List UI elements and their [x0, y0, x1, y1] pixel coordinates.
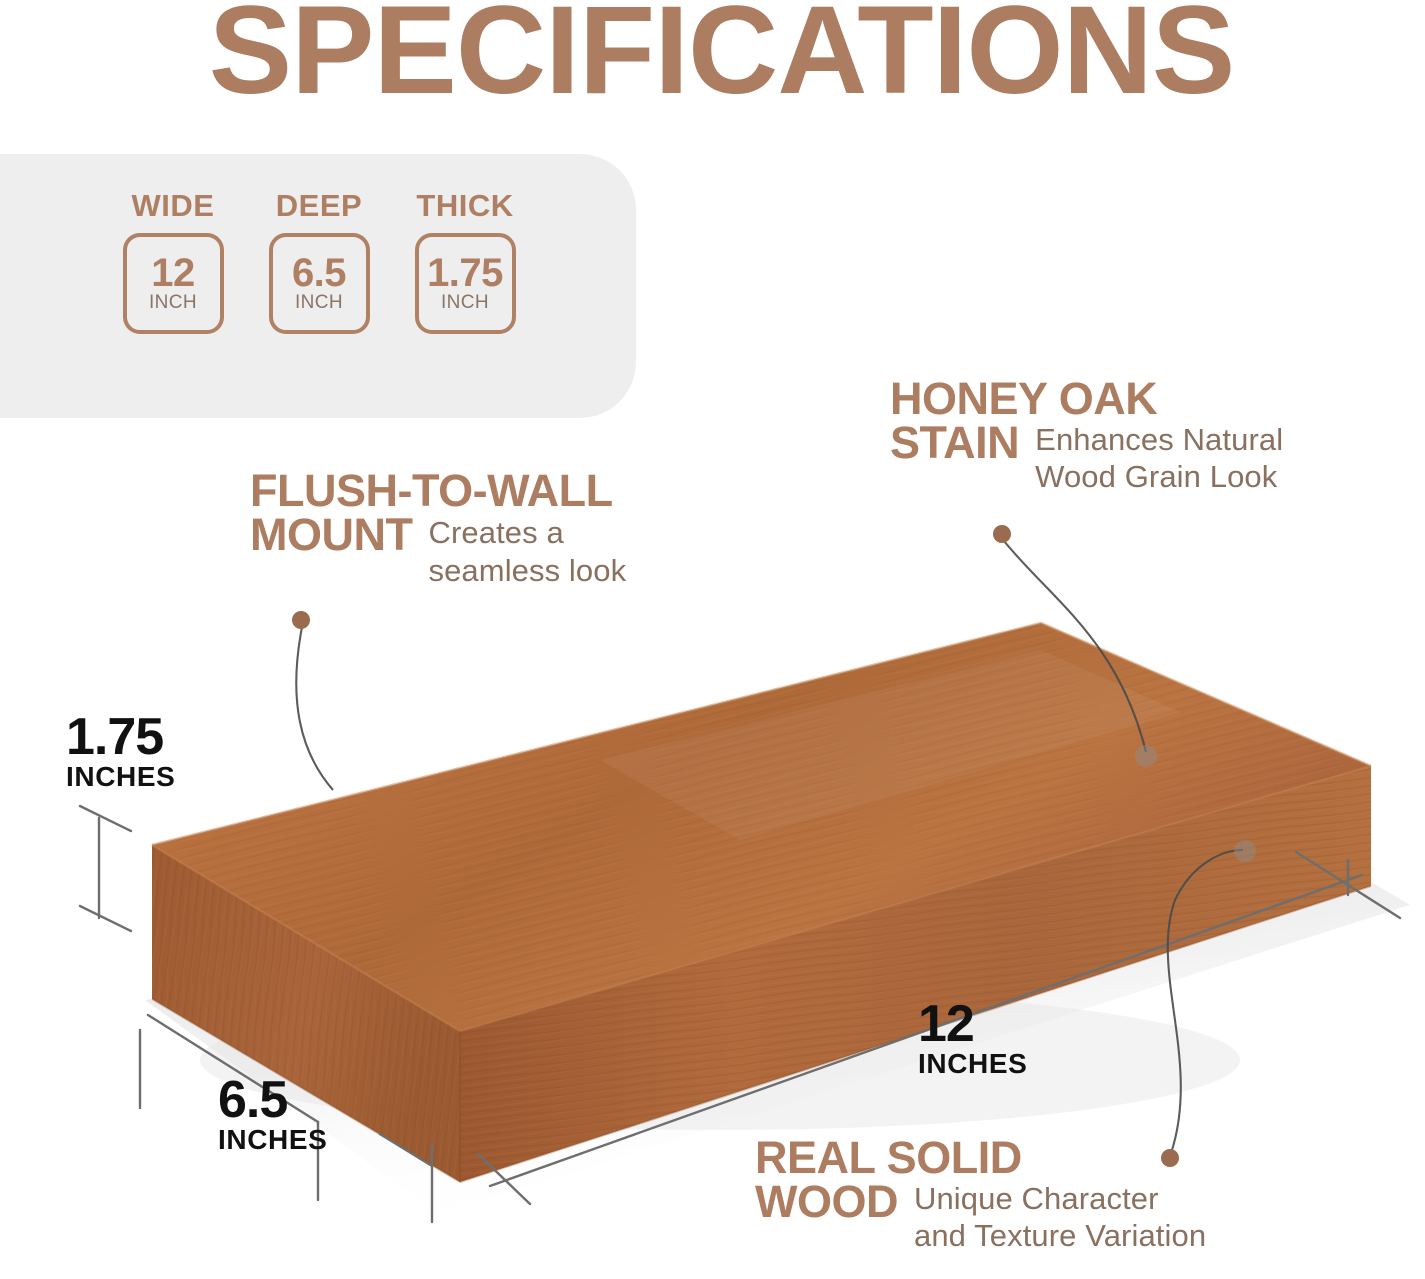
wood-shelf	[152, 623, 1371, 1182]
leader-line-real-solid-wood	[1168, 850, 1243, 1150]
page-title: SPECIFICATIONS	[0, 0, 1425, 113]
callout-honey-oak-stain: HONEY OAK STAIN Enhances Natural Wood Gr…	[890, 377, 1283, 495]
callout-flush-to-wall-mount: FLUSH-TO-WALL MOUNT Creates a seamless l…	[250, 469, 626, 589]
spec-box-thick: 1.75 INCH	[415, 233, 516, 334]
spec-label-wide: WIDE	[132, 190, 215, 221]
callout-dot-flush-to-wall	[292, 611, 310, 629]
dimension-unit-width: INCHES	[918, 1049, 1027, 1078]
spec-label-deep: DEEP	[276, 190, 362, 221]
callout-leaders	[292, 525, 1256, 1167]
spec-item-thick: THICK 1.75 INCH	[410, 190, 520, 334]
spec-unit-deep: INCH	[295, 293, 343, 314]
dimension-value-width: 12	[918, 1001, 1027, 1049]
callout-sub-line2: and Texture Variation	[914, 1219, 1206, 1254]
spec-value-wide: 12	[151, 254, 195, 292]
dimension-value-thickness: 1.75	[66, 714, 175, 762]
callout-sub-line2: seamless look	[428, 554, 626, 589]
callout-heading-line1: FLUSH-TO-WALL	[250, 469, 626, 513]
spec-box-deep: 6.5 INCH	[269, 233, 370, 334]
callout-target-real-solid-wood	[1234, 840, 1256, 862]
callout-sub-line1: Enhances Natural	[1035, 423, 1283, 458]
callout-heading-line1: REAL SOLID	[755, 1136, 1206, 1180]
dimension-unit-thickness: INCHES	[66, 762, 175, 791]
dimension-label-depth: 6.5 INCHES	[218, 1077, 327, 1154]
callout-sub-line2: Wood Grain Look	[1035, 460, 1283, 495]
callout-target-honey-oak	[1135, 745, 1157, 767]
spec-item-deep: DEEP 6.5 INCH	[264, 190, 374, 334]
callout-heading-line2: WOOD	[755, 1180, 898, 1224]
dimension-label-width: 12 INCHES	[918, 1001, 1027, 1078]
dimension-unit-depth: INCHES	[218, 1125, 327, 1154]
callout-dot-honey-oak	[993, 525, 1011, 543]
callout-heading-line1: HONEY OAK	[890, 377, 1283, 421]
spec-item-list: WIDE 12 INCH DEEP 6.5 INCH THICK 1.75 IN…	[118, 190, 520, 334]
spec-unit-wide: INCH	[149, 293, 197, 314]
spec-value-deep: 6.5	[292, 254, 346, 292]
callout-heading-line2: STAIN	[890, 421, 1019, 465]
specification-infographic: SPECIFICATIONS WIDE 12 INCH DEEP 6.5 INC…	[0, 0, 1425, 1279]
spec-unit-thick: INCH	[441, 293, 489, 314]
dimension-label-thickness: 1.75 INCHES	[66, 714, 175, 791]
callout-heading-line2: MOUNT	[250, 513, 412, 557]
spec-item-wide: WIDE 12 INCH	[118, 190, 228, 334]
callout-real-solid-wood: REAL SOLID WOOD Unique Character and Tex…	[755, 1136, 1206, 1254]
callout-sub-line1: Creates a	[428, 516, 626, 551]
leader-line-flush-to-wall	[296, 627, 333, 790]
spec-label-thick: THICK	[416, 190, 513, 221]
spec-value-thick: 1.75	[427, 254, 503, 292]
leader-line-honey-oak	[1004, 541, 1146, 752]
dimension-value-depth: 6.5	[218, 1077, 327, 1125]
spec-box-wide: 12 INCH	[123, 233, 224, 334]
callout-sub-line1: Unique Character	[914, 1182, 1206, 1217]
